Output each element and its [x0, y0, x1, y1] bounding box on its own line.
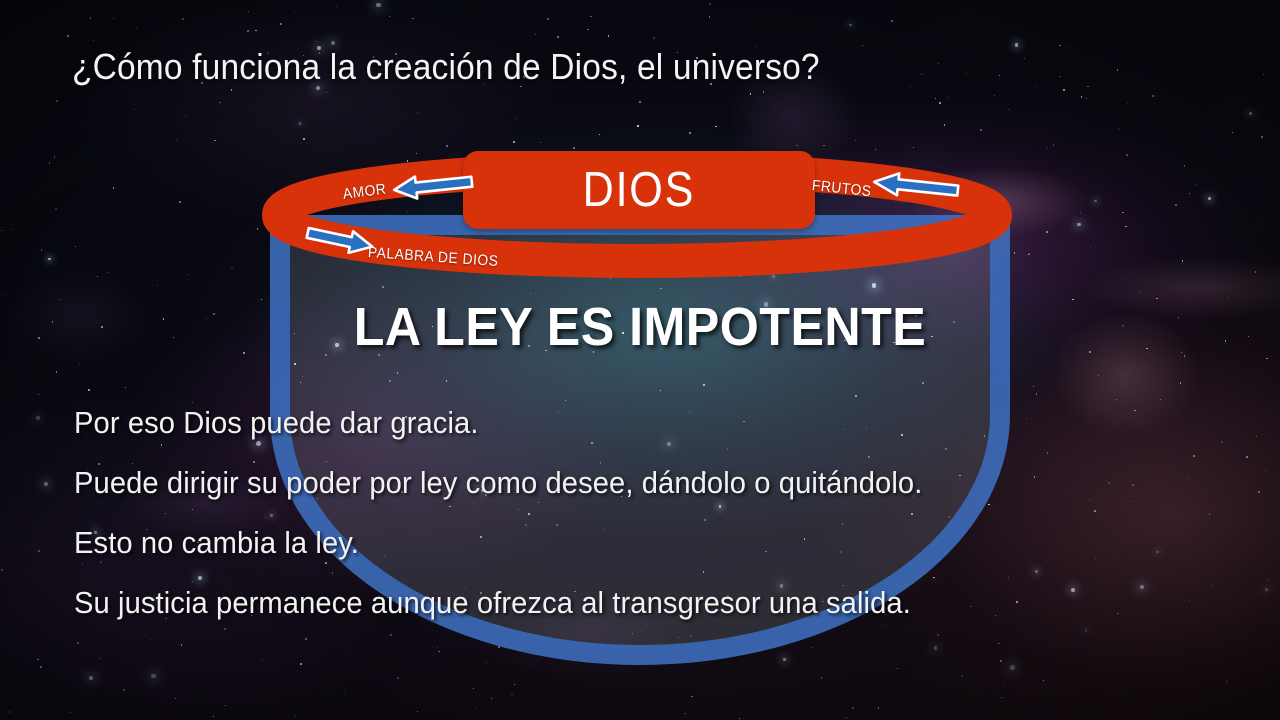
body-line: Su justicia permanece aunque ofrezca al …	[74, 573, 1108, 633]
slide-headline: LA LEY ES IMPOTENTE	[45, 296, 1235, 358]
body-text-block: Por eso Dios puede dar gracia.Puede diri…	[74, 393, 1174, 633]
body-line: Puede dirigir su poder por ley como dese…	[74, 453, 1108, 513]
dios-box-label: DIOS	[583, 166, 695, 215]
body-line: Por eso Dios puede dar gracia.	[74, 393, 1108, 453]
slide-canvas: DIOS AMOR FRUTOS PALABRA DE DIOS ¿Cómo f…	[0, 0, 1280, 720]
frutos-arrow	[866, 172, 962, 200]
dios-box: DIOS	[463, 151, 815, 229]
slide-title: ¿Cómo funciona la creación de Dios, el u…	[72, 46, 820, 88]
amor-arrow	[386, 172, 476, 200]
body-line: Esto no cambia la ley.	[74, 513, 1108, 573]
